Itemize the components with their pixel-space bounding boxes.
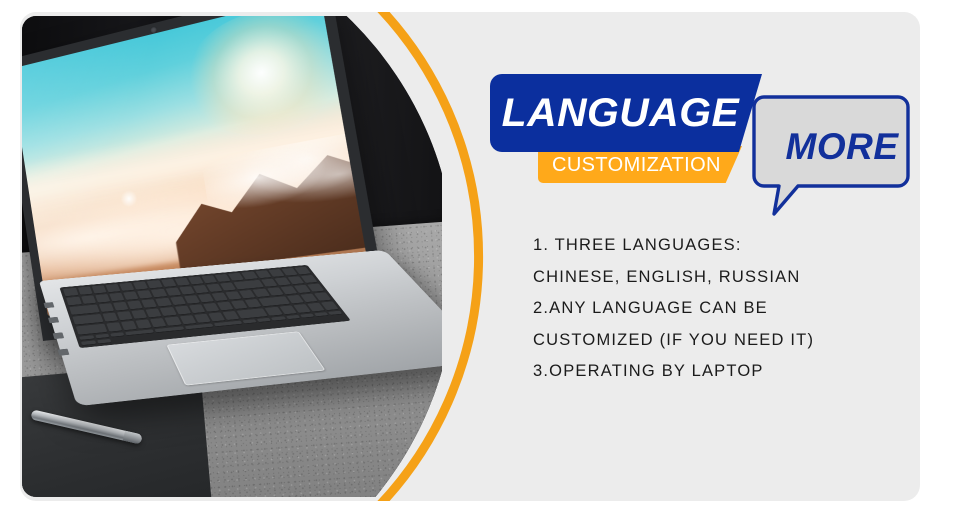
feature-line: 3.OPERATING BY LAPTOP [533,356,903,388]
headline-lockup: MORE LANGUAGE CUSTOMIZATION [490,74,910,226]
customization-subhead: CUSTOMIZATION [552,155,721,175]
feature-list: 1. THREE LANGUAGES: CHINESE, ENGLISH, RU… [533,230,903,388]
language-banner: LANGUAGE [490,74,762,152]
feature-line: CHINESE, ENGLISH, RUSSIAN [533,262,903,294]
more-speech-bubble: MORE [752,94,910,224]
language-headline: LANGUAGE [502,93,740,133]
more-bubble-label: MORE [752,94,910,199]
feature-line: 1. THREE LANGUAGES: [533,230,903,262]
promo-banner-card: MORE LANGUAGE CUSTOMIZATION 1. THREE LAN… [20,12,920,501]
feature-line: 2.ANY LANGUAGE CAN BE [533,293,903,325]
feature-line: CUSTOMIZED (IF YOU NEED IT) [533,325,903,357]
